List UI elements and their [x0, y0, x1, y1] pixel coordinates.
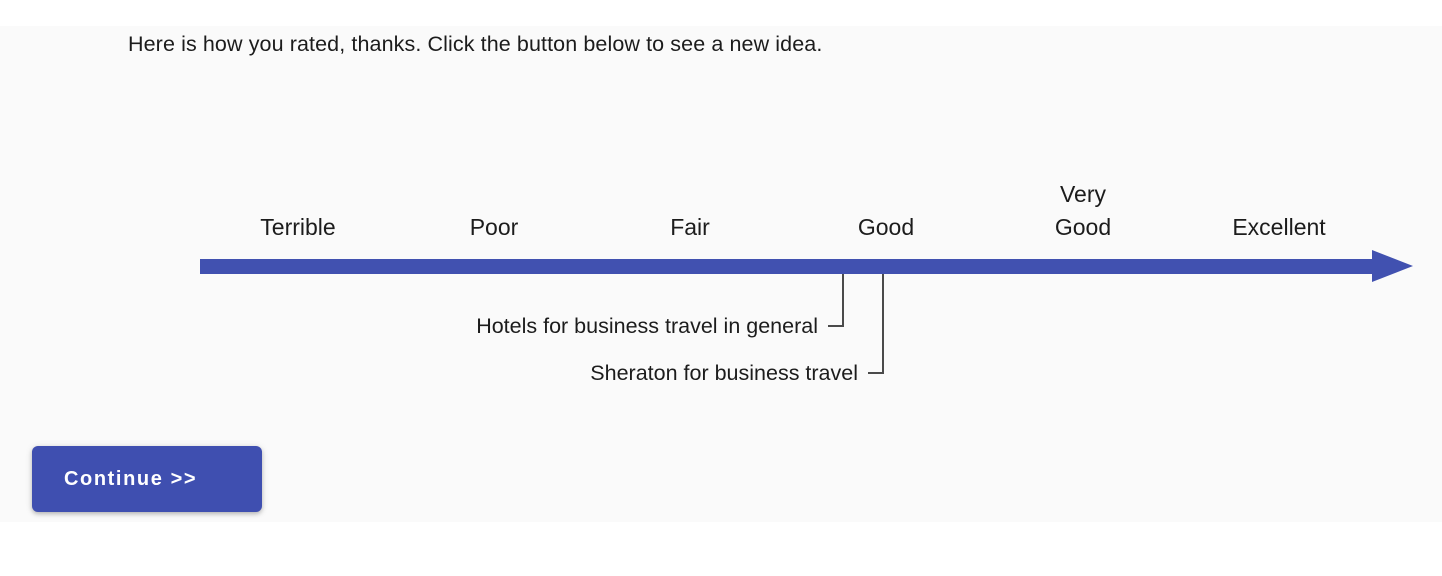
scale-label-terrible: Terrible — [260, 211, 335, 244]
scale-arrow-head-icon — [1372, 250, 1413, 282]
scale-label-very-good: Very Good — [1055, 178, 1111, 244]
scale-label-excellent: Excellent — [1232, 211, 1325, 244]
leader-line-vertical-sheraton — [882, 274, 884, 373]
leader-line-vertical-hotels — [842, 274, 844, 326]
scale-label-poor: Poor — [470, 211, 519, 244]
survey-results-page: Here is how you rated, thanks. Click the… — [0, 0, 1442, 576]
scale-arrow-bar — [200, 259, 1376, 274]
scale-label-fair: Fair — [670, 211, 710, 244]
annotation-label-sheraton: Sheraton for business travel — [590, 361, 858, 386]
continue-button[interactable]: Continue >> — [32, 446, 262, 512]
leader-line-hook-hotels — [828, 325, 844, 327]
leader-line-hook-sheraton — [868, 372, 884, 374]
annotation-label-hotels: Hotels for business travel in general — [476, 314, 818, 339]
scale-label-good: Good — [858, 211, 914, 244]
